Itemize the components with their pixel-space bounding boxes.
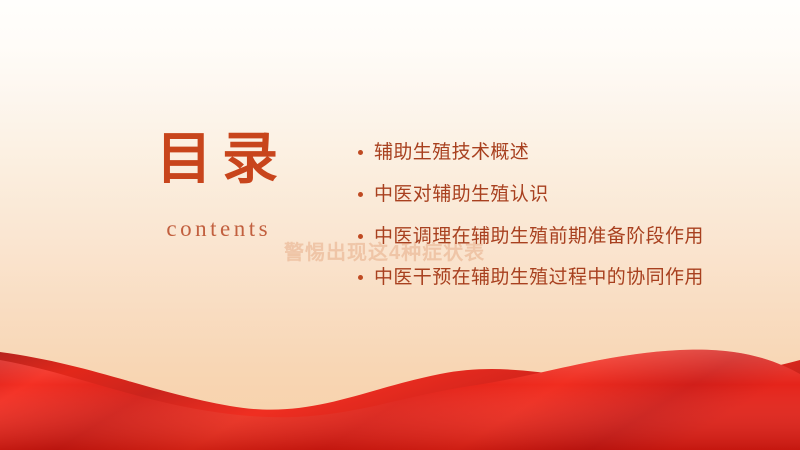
list-item[interactable]: 中医调理在辅助生殖前期准备阶段作用 [356, 222, 724, 253]
bullet-dot-icon [358, 275, 363, 280]
red-wave-decoration [0, 330, 800, 450]
page-subtitle: contents [112, 216, 322, 242]
list-item[interactable]: 中医干预在辅助生殖过程中的协同作用 [356, 263, 724, 294]
bullet-dot-icon [358, 234, 363, 239]
list-item[interactable]: 辅助生殖技术概述 [356, 138, 724, 169]
title-block: 目录 contents [112, 128, 322, 242]
bullet-dot-icon [358, 192, 363, 197]
list-item[interactable]: 中医对辅助生殖认识 [356, 180, 724, 211]
list-item-label: 辅助生殖技术概述 [374, 142, 529, 163]
list-item-label: 中医对辅助生殖认识 [374, 184, 549, 205]
table-of-contents: 辅助生殖技术概述 中医对辅助生殖认识 中医调理在辅助生殖前期准备阶段作用 中医干… [356, 138, 724, 294]
bullet-dot-icon [358, 150, 363, 155]
slide-canvas: 目录 contents 警惕出现这4种症状表 辅助生殖技术概述 中医对辅助生殖认… [0, 0, 800, 450]
list-item-label: 中医调理在辅助生殖前期准备阶段作用 [374, 226, 704, 247]
page-title: 目录 [112, 128, 322, 192]
list-item-label: 中医干预在辅助生殖过程中的协同作用 [374, 267, 704, 288]
